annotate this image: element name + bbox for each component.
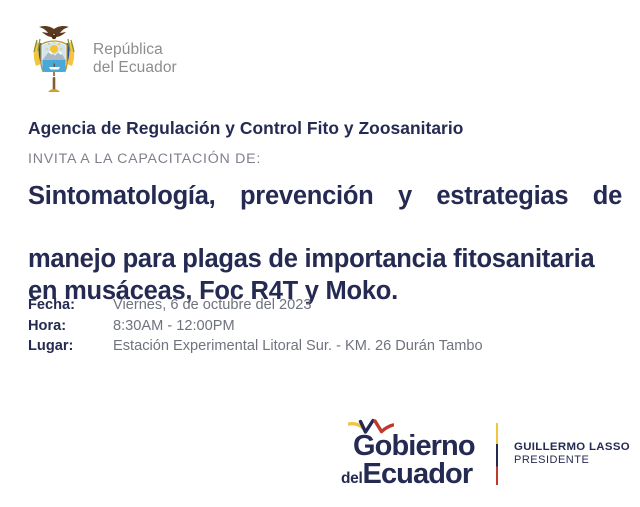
flag-divider [496,423,498,485]
detail-label-lugar: Lugar: [28,336,113,357]
detail-row-fecha: Fecha: Viernes, 6 de octubre del 2023 [28,295,483,316]
detail-value-lugar: Estación Experimental Litoral Sur. - KM.… [113,336,483,357]
gobierno-del-ecuador-logo: Gobierno delEcuador [341,418,482,490]
government-footer: Gobierno delEcuador GUILLERMO LASSO PRES… [341,418,630,490]
logo-line-gobierno: Gobierno [341,432,482,461]
republic-brand: República del Ecuador [24,22,177,96]
ecuador-coat-of-arms-icon [24,22,84,96]
event-title-line-1: Sintomatología, prevención y estrategias… [28,181,622,244]
detail-row-hora: Hora: 8:30AM - 12:00PM [28,316,483,337]
event-title-line-2: manejo para plagas de importancia fitosa… [28,244,622,276]
gobierno-wordmark: Gobierno delEcuador [341,432,482,492]
president-name: GUILLERMO LASSO [514,441,630,454]
invitation-subtitle: INVITA A LA CAPACITACIÓN DE: [28,151,261,167]
detail-value-fecha: Viernes, 6 de octubre del 2023 [113,295,312,316]
invitation-poster: República del Ecuador Agencia de Regulac… [0,0,640,507]
event-title: Sintomatología, prevención y estrategias… [28,181,622,307]
logo-word-ecuador: Ecuador [363,458,473,490]
logo-line-del-ecuador: delEcuador [341,461,482,492]
detail-label-hora: Hora: [28,316,113,337]
president-block: GUILLERMO LASSO PRESIDENTE [514,441,630,466]
detail-row-lugar: Lugar: Estación Experimental Litoral Sur… [28,336,483,357]
event-details: Fecha: Viernes, 6 de octubre del 2023 Ho… [28,295,483,357]
republic-label: República del Ecuador [93,41,177,78]
detail-label-fecha: Fecha: [28,295,113,316]
agency-name: Agencia de Regulación y Control Fito y Z… [28,118,463,139]
detail-value-hora: 8:30AM - 12:00PM [113,316,235,337]
logo-word-del: del [341,470,363,487]
president-role: PRESIDENTE [514,454,630,466]
